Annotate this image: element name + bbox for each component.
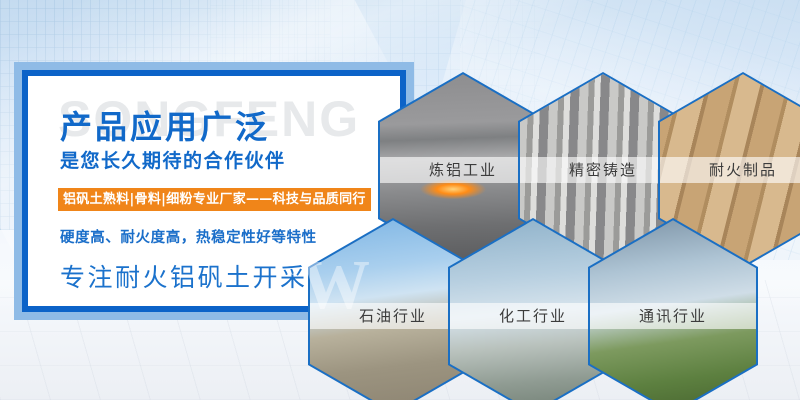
hexagon-label: 通讯行业 — [590, 303, 756, 329]
logo-watermark: W — [300, 246, 370, 326]
hexagon-card-communications-industry[interactable]: 通讯行业 — [588, 218, 758, 400]
hexagon-border: 通讯行业 — [588, 218, 758, 400]
hexagon-inner: 通讯行业 — [590, 220, 756, 400]
industry-hexagon-grid: 炼铝工业 精密铸造 耐火制品 — [0, 0, 800, 400]
banner-stage: SONGFENG 产品应用广泛 是您长久期待的合作伙伴 铝矾土熟料|骨料|细粉专… — [0, 0, 800, 400]
hexagon-label: 耐火制品 — [660, 157, 800, 183]
